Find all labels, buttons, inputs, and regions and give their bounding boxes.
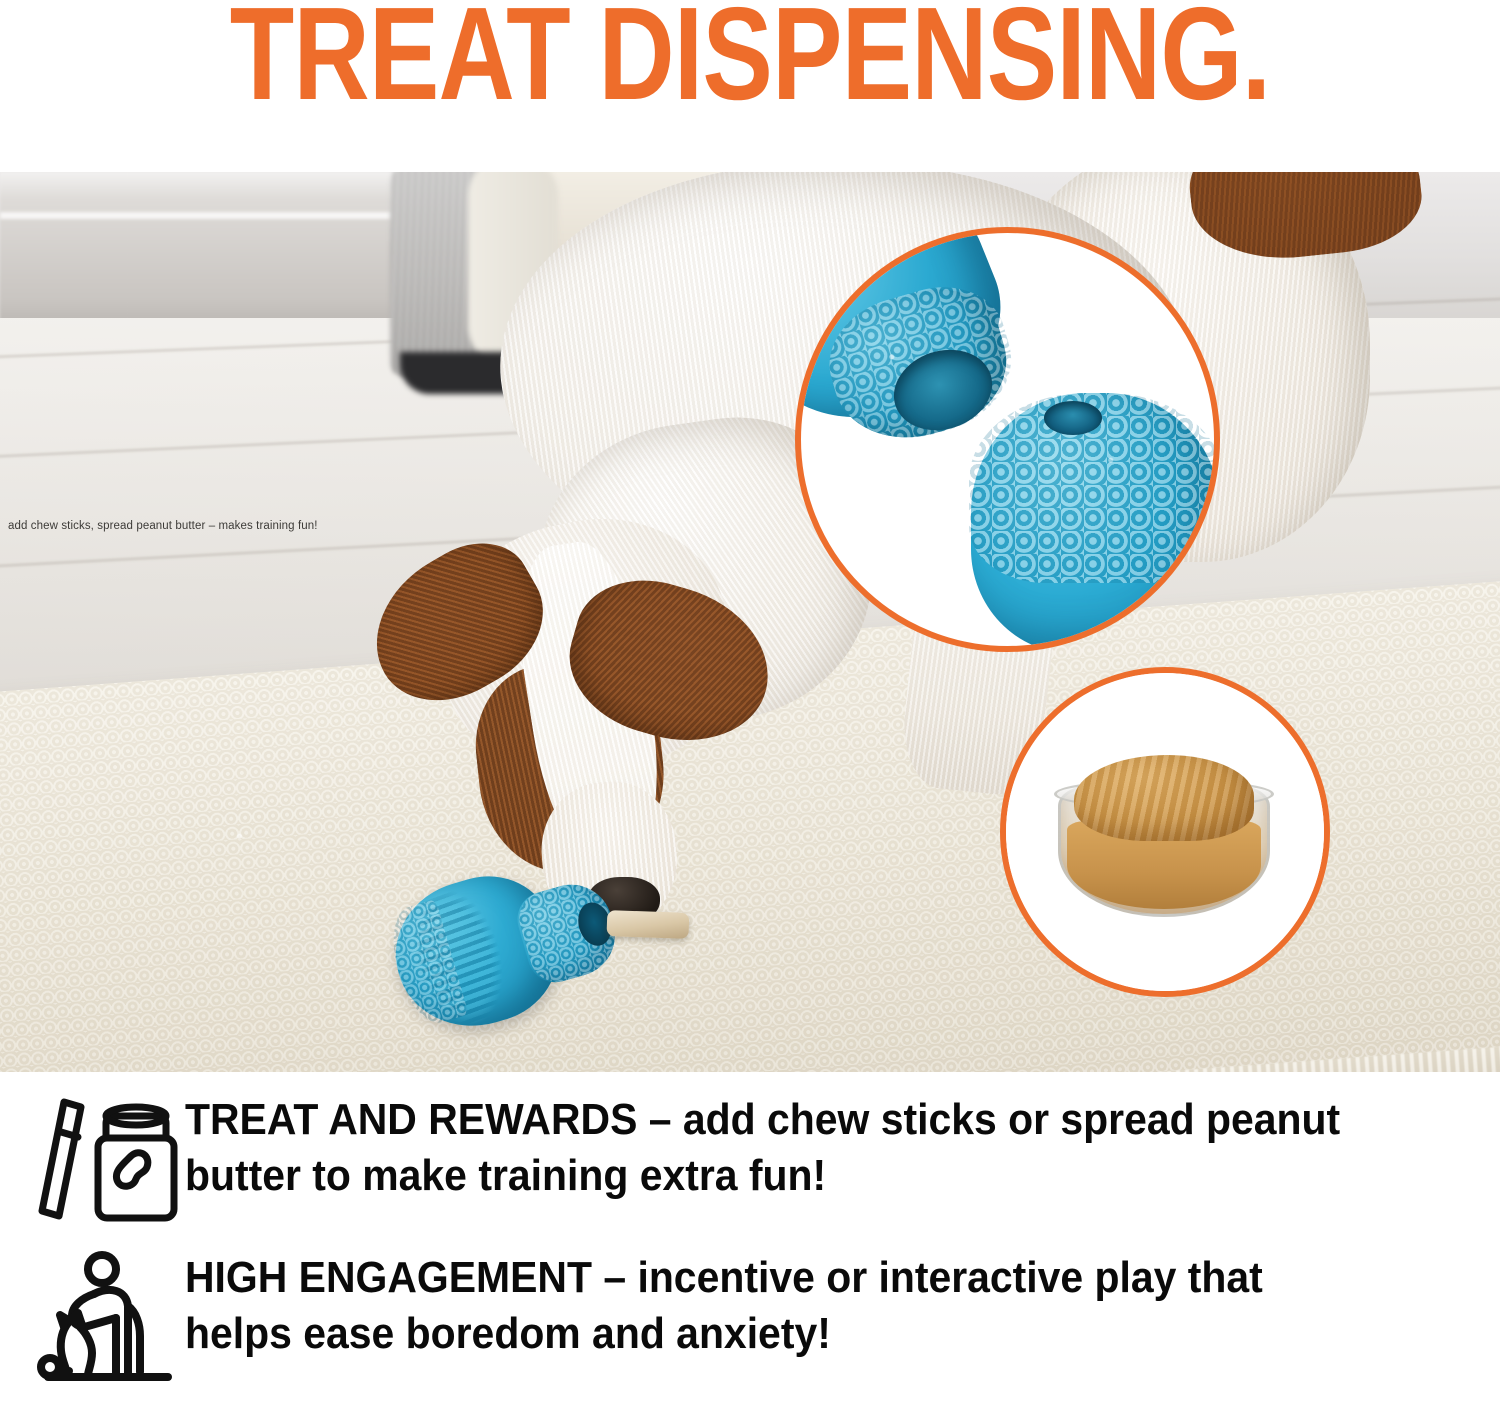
inset-product-closeup <box>795 227 1220 652</box>
feature-lead: HIGH ENGAGEMENT <box>185 1253 592 1302</box>
inset-peanut-butter <box>1000 667 1330 997</box>
feature-list: TREAT AND REWARDS – add chew sticks or s… <box>0 1072 1500 1406</box>
feature-row-treat-and-rewards: TREAT AND REWARDS – add chew sticks or s… <box>0 1086 1500 1236</box>
feature-row-high-engagement: HIGH ENGAGEMENT – incentive or interacti… <box>0 1244 1500 1394</box>
page-title: TREAT DISPENSING. <box>150 0 1350 120</box>
feature-lead: TREAT AND REWARDS <box>185 1095 637 1144</box>
feature-text-high-engagement: HIGH ENGAGEMENT – incentive or interacti… <box>185 1244 1408 1362</box>
headline-band: TREAT DISPENSING. <box>0 0 1500 172</box>
chew-stick <box>607 910 690 939</box>
photo-caption: add chew sticks, spread peanut butter – … <box>8 520 318 532</box>
peanut-butter-bowl <box>1058 751 1270 919</box>
hero-photo: add chew sticks, spread peanut butter – … <box>0 172 1500 1072</box>
chew-stick-and-peanut-butter-jar-icon <box>0 1086 185 1236</box>
feature-text-treat-and-rewards: TREAT AND REWARDS – add chew sticks or s… <box>185 1086 1408 1204</box>
feature-separator: – <box>637 1095 682 1144</box>
peanut-butter-mound <box>1074 755 1254 841</box>
feature-separator: – <box>592 1253 637 1302</box>
toy-b-opening <box>1044 401 1102 435</box>
person-playing-with-dog-icon <box>0 1244 185 1394</box>
